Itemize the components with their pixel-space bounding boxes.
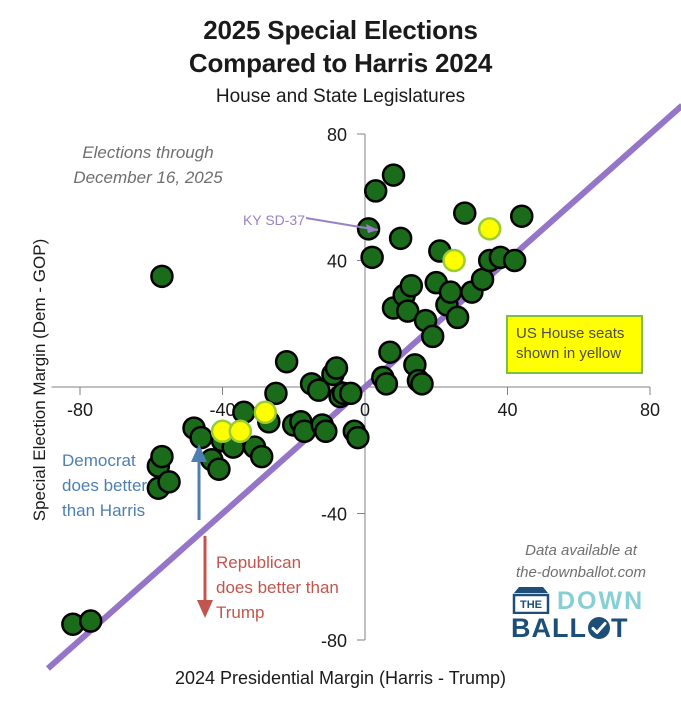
data-point — [315, 421, 336, 442]
data-source-line-2: the-downballot.com — [492, 562, 670, 584]
ky-sd-37-label: KY SD-37 — [243, 212, 305, 228]
elections-through-line-1: Elections through — [48, 140, 248, 165]
data-point — [233, 402, 254, 423]
data-point — [376, 373, 397, 394]
x-tick-label: 80 — [640, 400, 660, 420]
data-point — [347, 427, 368, 448]
data-point — [251, 446, 272, 467]
downballot-logo: THE DOWN BALL T — [511, 586, 651, 642]
logo-down-text: DOWN — [557, 589, 644, 614]
x-tick-label: 0 — [360, 400, 370, 420]
data-source-line-1: Data available at — [492, 540, 670, 562]
y-tick-label: -40 — [321, 505, 347, 525]
legend-box: US House seats shown in yellow — [506, 315, 643, 374]
data-point — [191, 427, 212, 448]
logo-ballot-text: BALL — [511, 614, 587, 642]
data-point — [230, 421, 251, 442]
y-tick-label: 80 — [327, 125, 347, 145]
x-tick-label: 40 — [497, 400, 517, 420]
republican-better-note: Republican does better than Trump — [216, 550, 342, 625]
data-point — [479, 218, 500, 239]
y-axis-title: Special Election Margin (Dem - GOP) — [30, 150, 50, 610]
republican-better-arrow — [197, 536, 213, 618]
check-circle-icon — [587, 616, 611, 640]
legend-line-2: shown in yellow — [516, 344, 633, 364]
ballot-box-icon: THE — [511, 586, 551, 614]
data-point — [80, 611, 101, 632]
data-point — [208, 459, 229, 480]
elections-through-line-2: December 16, 2025 — [48, 165, 248, 190]
y-tick-label: 40 — [327, 252, 347, 272]
data-point — [265, 383, 286, 404]
data-source-note: Data available at the-downballot.com — [492, 540, 670, 584]
data-point — [444, 250, 465, 271]
y-tick-label: -80 — [321, 631, 347, 651]
data-point — [151, 266, 172, 287]
x-tick-label: -40 — [209, 400, 235, 420]
data-point — [340, 383, 361, 404]
data-point — [390, 228, 411, 249]
x-tick-label: -80 — [67, 400, 93, 420]
data-point — [401, 275, 422, 296]
logo-the-text: THE — [520, 599, 542, 611]
data-point — [379, 342, 400, 363]
data-point — [276, 351, 297, 372]
logo-ballot-text-end: T — [611, 614, 629, 642]
data-point — [255, 402, 276, 423]
logo-top-row: THE DOWN — [511, 586, 651, 614]
data-point — [383, 165, 404, 186]
data-point — [454, 203, 475, 224]
legend-line-1: US House seats — [516, 324, 633, 344]
elections-through-note: Elections through December 16, 2025 — [48, 140, 248, 190]
democrat-better-note: Democrat does better than Harris — [62, 448, 174, 523]
data-point — [504, 250, 525, 271]
data-point — [511, 206, 532, 227]
x-axis-title: 2024 Presidential Margin (Harris - Trump… — [0, 668, 681, 689]
data-point — [326, 358, 347, 379]
data-point — [412, 373, 433, 394]
data-point — [365, 180, 386, 201]
data-point — [447, 307, 468, 328]
data-point — [422, 326, 443, 347]
data-point — [362, 247, 383, 268]
data-point — [440, 282, 461, 303]
logo-ballot-row: BALL T — [511, 614, 651, 642]
